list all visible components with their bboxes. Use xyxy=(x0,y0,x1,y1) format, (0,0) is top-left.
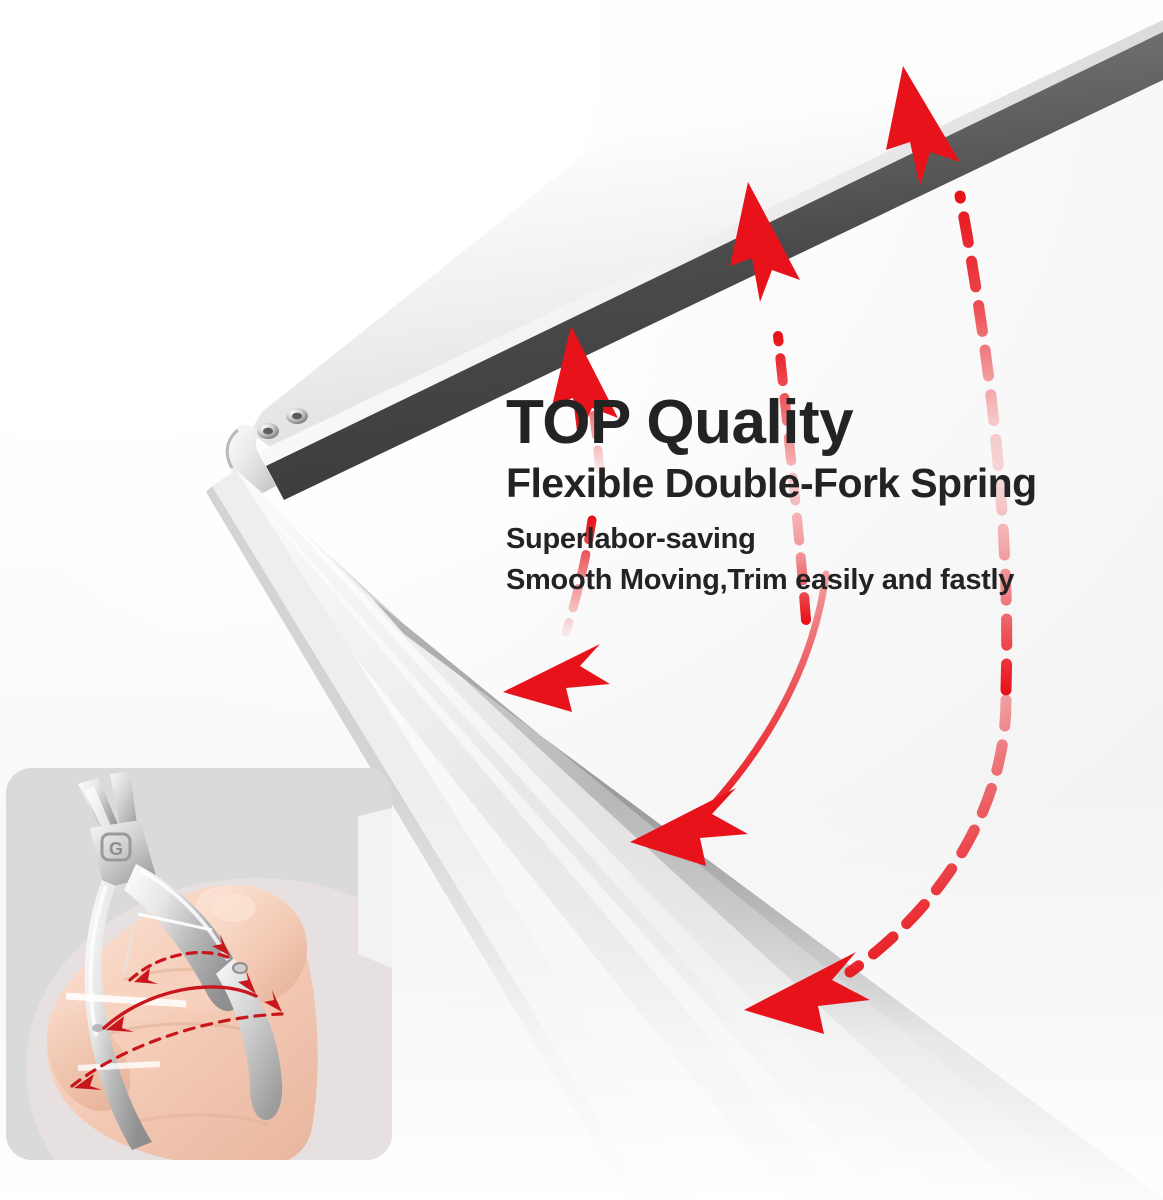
marketing-copy: TOP Quality Flexible Double-Fork Spring … xyxy=(506,392,1106,601)
product-feature-image: TOP Quality Flexible Double-Fork Spring … xyxy=(0,0,1163,1200)
fingernail xyxy=(212,894,256,922)
page-title: TOP Quality xyxy=(506,392,1106,454)
hand-holding-nipper: G xyxy=(6,768,392,1160)
spring-blade-2 xyxy=(78,1064,160,1068)
pivot-pin-right-hole xyxy=(292,413,302,420)
handle-rivet xyxy=(92,1024,104,1032)
brand-logo-letter: G xyxy=(109,839,123,859)
subheadline: Flexible Double-Fork Spring xyxy=(506,462,1106,505)
inset-photo-card: G xyxy=(6,768,392,1160)
pivot-pin-left-hole xyxy=(263,428,273,435)
detail-line-1: Superlabor-saving xyxy=(506,519,1106,560)
spring-pin xyxy=(233,963,247,973)
inset-background-object xyxy=(358,808,392,968)
detail-line-2: Smooth Moving,Trim easily and fastly xyxy=(506,560,1106,601)
